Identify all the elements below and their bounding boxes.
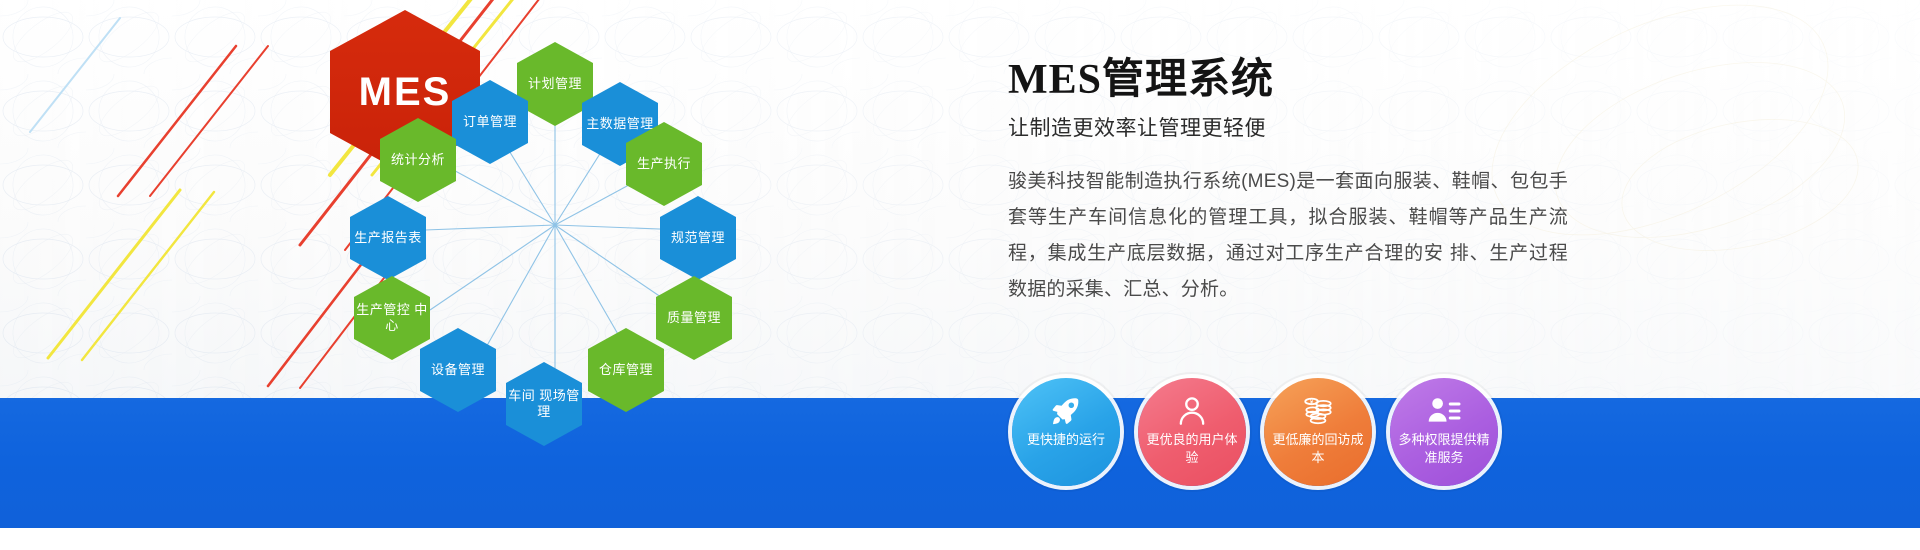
- user-icon: [1175, 394, 1209, 428]
- description-paragraph: 骏美科技智能制造执行系统(MES)是一套面向服装、鞋帽、包包手套等生产车间信息化…: [1008, 164, 1568, 308]
- badge-faster-operation[interactable]: 更快捷的运行: [1012, 378, 1120, 486]
- hex-label: 质量管理: [667, 310, 721, 326]
- hex-label: 设备管理: [431, 362, 485, 378]
- hex-label: 生产报告表: [354, 230, 422, 246]
- hex-label: 生产管控 中心: [354, 302, 430, 335]
- hex-label: 车间 现场管理: [506, 388, 582, 421]
- badge-multi-permission-service[interactable]: 多种权限提供精准服务: [1390, 378, 1498, 486]
- hex-label: 生产执行: [637, 156, 691, 172]
- badge-better-user-experience[interactable]: 更优良的用户体验: [1138, 378, 1246, 486]
- hex-label: 计划管理: [528, 76, 582, 92]
- user-list-icon: [1427, 394, 1461, 428]
- hex-label: 主数据管理: [586, 116, 654, 132]
- hex-label: 仓库管理: [599, 362, 653, 378]
- badge-label: 更快捷的运行: [1018, 431, 1114, 449]
- banner-copy: MES管理系统 让制造更效率让管理更轻便 骏美科技智能制造执行系统(MES)是一…: [1008, 56, 1648, 308]
- bottom-blue-band: [0, 398, 1920, 550]
- badge-label: 更低廉的回访成本: [1270, 431, 1366, 466]
- page-subtitle: 让制造更效率让管理更轻便: [1008, 112, 1648, 142]
- badge-label: 多种权限提供精准服务: [1396, 431, 1492, 466]
- page-title: MES管理系统: [1008, 56, 1648, 104]
- svg-text:¥: ¥: [1310, 399, 1314, 406]
- coins-icon: ¥: [1301, 394, 1335, 428]
- hex-label: 统计分析: [391, 152, 445, 168]
- badge-lower-followup-cost[interactable]: ¥ 更低廉的回访成本: [1264, 378, 1372, 486]
- badge-label: 更优良的用户体验: [1144, 431, 1240, 466]
- hex-center-label: MES: [359, 70, 452, 115]
- mes-hexagon-diagram: MES 计划管理 主数据管理 订单管理 生产执行 统计分析 规范管理 生产报告表…: [330, 10, 780, 440]
- mes-promo-banner: MES 计划管理 主数据管理 订单管理 生产执行 统计分析 规范管理 生产报告表…: [0, 0, 1920, 550]
- hex-label: 订单管理: [463, 114, 517, 130]
- rocket-icon: [1049, 394, 1083, 428]
- hex-label: 规范管理: [671, 230, 725, 246]
- feature-badge-list: 更快捷的运行 更优良的用户体验 ¥: [1012, 378, 1498, 486]
